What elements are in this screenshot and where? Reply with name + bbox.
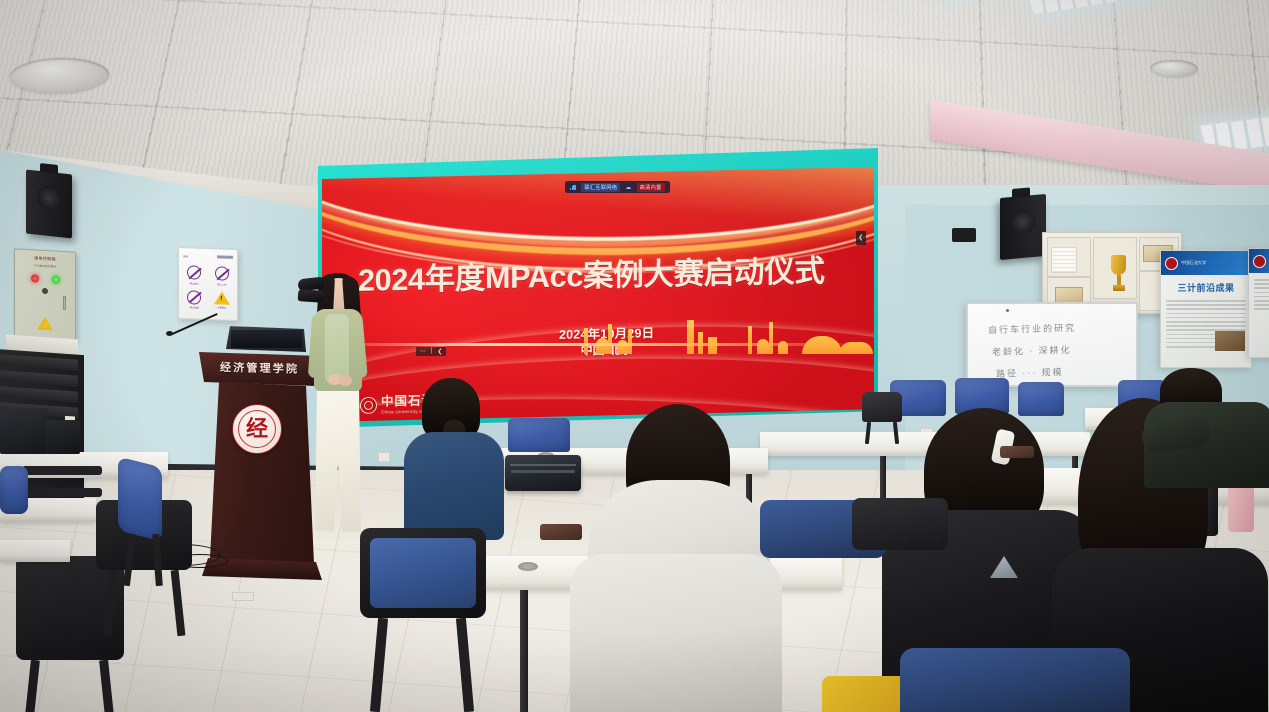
chair[interactable]	[852, 498, 948, 558]
poster-title: 三计前沿成果	[1161, 281, 1251, 294]
poster-header	[1249, 249, 1269, 273]
green-indicator-light-icon	[52, 275, 60, 283]
no-entry-icon: 禁止入内	[211, 266, 234, 286]
gooseneck-microphone-icon[interactable]	[170, 334, 226, 378]
cable-grommet	[518, 562, 538, 571]
poster-body-lines	[1254, 279, 1269, 310]
safety-notice-sign: 安全 禁止烟火 禁止入内 禁止吸烟 注意安全	[178, 247, 238, 321]
screen-status-bar: 联汇互联网络 ☁ 高清内置	[565, 181, 670, 193]
chair[interactable]	[360, 528, 486, 708]
high-voltage-warning-icon	[37, 317, 53, 331]
power-outlet[interactable]	[378, 452, 390, 462]
poster-header-text: 中国石油大学	[1181, 260, 1206, 266]
safety-icon-grid: 禁止烟火 禁止入内 禁止吸烟 注意安全	[183, 265, 233, 311]
poster-photo	[1215, 331, 1245, 351]
sign-header-left: 安全	[183, 254, 188, 258]
poster-board-2	[1248, 248, 1269, 358]
monitor-icon	[46, 420, 80, 454]
whiteboard-line-1: 自行车行业的研究	[988, 321, 1076, 336]
desk	[0, 540, 70, 562]
no-fire-icon: 禁止烟火	[183, 265, 206, 285]
red-indicator-light-icon	[31, 274, 39, 282]
mode-label: 高清内置	[637, 183, 665, 192]
osd-dots: ⋯	[420, 348, 426, 355]
audience-member	[570, 404, 770, 712]
indicator-lights	[15, 273, 75, 284]
seal-glyph: 经	[246, 418, 268, 440]
university-seal-icon	[1165, 257, 1178, 270]
screen-osd-bar[interactable]: ⋯ | ❮	[416, 347, 447, 356]
screen-top-glow	[322, 167, 874, 237]
sign-header-bar	[217, 255, 233, 259]
school-seal-icon: 经	[232, 404, 282, 454]
network-label: 联汇互联网络	[581, 183, 620, 192]
floor-power-plate	[232, 592, 254, 601]
tablet-arm	[1000, 446, 1034, 458]
screen-osd-back-button[interactable]: ❮	[856, 231, 866, 245]
wall-speaker-icon	[1000, 194, 1046, 260]
audience-torso	[570, 554, 782, 712]
audience-member	[1138, 368, 1269, 488]
university-seal-icon	[1253, 255, 1266, 268]
wall-speaker-icon	[26, 170, 72, 239]
electrical-control-panel: 强电控制箱 小心触电请勿靠近	[14, 248, 76, 341]
projector-icon	[952, 228, 976, 242]
presenter-trousers	[315, 386, 361, 532]
classroom-photo: 强电控制箱 小心触电请勿靠近 安全 禁止烟火 禁止入内 禁止吸烟	[0, 0, 1269, 712]
chair[interactable]	[900, 648, 1130, 712]
award-plaque-icon	[1055, 287, 1083, 303]
panel-knob[interactable]	[42, 287, 48, 293]
chair[interactable]	[0, 460, 60, 506]
documents-icon	[1051, 247, 1077, 273]
no-smoking-icon: 禁止吸烟	[183, 290, 206, 310]
tablet-arm	[540, 524, 582, 540]
panel-handle[interactable]	[63, 296, 66, 310]
sign-header: 安全	[183, 254, 233, 260]
osd-divider: |	[431, 348, 433, 354]
poster-header: 中国石油大学	[1161, 251, 1251, 275]
monitor-icon	[0, 408, 48, 454]
whiteboard: 自行车行业的研究 老龄化 · 深耕化 路径 ··· 规模	[966, 302, 1138, 387]
marker-dot	[1006, 309, 1009, 312]
desk-leg	[520, 590, 528, 712]
whiteboard-line-2: 老龄化 · 深耕化	[992, 343, 1072, 358]
poster-board-1: 中国石油大学 三计前沿成果	[1160, 250, 1252, 368]
cloud-icon: ☁	[625, 184, 631, 191]
caution-triangle-icon: 注意安全	[211, 291, 234, 311]
trophy-icon	[1111, 255, 1126, 297]
presenter-hand-right	[339, 375, 352, 386]
signal-bars-icon	[570, 185, 576, 190]
presenter	[298, 278, 370, 560]
chair[interactable]	[508, 418, 570, 454]
chevron-left-icon[interactable]: ❮	[437, 348, 442, 355]
chair[interactable]	[118, 462, 180, 572]
presenter-shoe-right	[298, 289, 326, 303]
laptop-icon[interactable]	[226, 326, 306, 352]
audience-torso	[404, 432, 504, 540]
